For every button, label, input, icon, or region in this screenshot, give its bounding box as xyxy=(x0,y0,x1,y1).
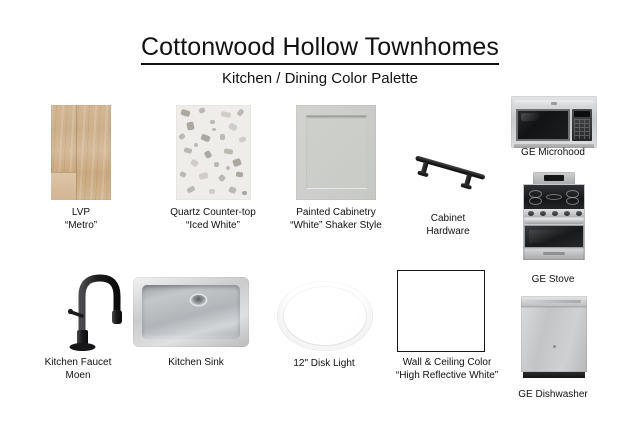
caption-stove: GE Stove xyxy=(532,273,575,286)
caption-cabinetry: Painted Cabinetry “White” Shaker Style xyxy=(290,206,382,232)
freestanding-range-icon xyxy=(516,172,592,260)
caption-lvp: LVP “Metro” xyxy=(65,206,97,232)
dishwasher-icon xyxy=(521,296,587,378)
dishwasher-control-bar xyxy=(521,296,587,307)
undermount-kitchen-sink-icon xyxy=(133,277,249,347)
pulldown-kitchen-faucet-icon xyxy=(62,270,130,354)
pull-foot-right xyxy=(460,183,472,190)
plank-lower-left xyxy=(51,172,76,200)
storage-drawer xyxy=(524,248,584,260)
range-cooktop xyxy=(524,185,584,209)
microwave-control-panel xyxy=(572,109,592,141)
page-title: Cottonwood Hollow Townhomes xyxy=(0,34,640,62)
caption-hardware: Cabinet Hardware xyxy=(426,212,469,238)
page-title-text: Cottonwood Hollow Townhomes xyxy=(141,33,499,65)
burner-rear-left xyxy=(529,197,542,205)
paint-color-swatch-icon xyxy=(397,270,485,352)
microwave-vent xyxy=(515,100,593,107)
burner-rear-right xyxy=(566,197,579,205)
page-subtitle: Kitchen / Dining Color Palette xyxy=(0,70,640,87)
pull-foot-left xyxy=(417,170,429,177)
over-range-microwave-icon xyxy=(511,96,597,148)
quartz-stone-swatch-icon xyxy=(176,105,251,200)
microwave-display xyxy=(574,111,590,117)
oven-door-handle xyxy=(524,218,584,224)
caption-microhood: GE Microhood xyxy=(521,146,585,159)
dishwasher-toe-kick xyxy=(523,372,585,378)
disk-light-lens xyxy=(288,290,362,342)
color-palette-board: Cottonwood Hollow Townhomes Kitchen / Di… xyxy=(0,0,640,445)
plank-seam xyxy=(76,105,77,200)
caption-sink: Kitchen Sink xyxy=(168,356,224,369)
caption-wall-color: Wall & Ceiling Color “High Reflective Wh… xyxy=(396,356,498,382)
microwave-door-glass xyxy=(516,109,570,141)
caption-quartz: Quartz Counter-top “Iced White” xyxy=(170,206,256,232)
wood-plank-swatch-icon xyxy=(51,105,111,200)
range-knob-panel xyxy=(524,209,584,217)
oven-door xyxy=(524,225,584,248)
shaker-cabinet-door-icon xyxy=(296,105,376,200)
sink-bowl xyxy=(142,285,240,339)
caption-disk-light: 12" Disk Light xyxy=(293,357,354,370)
cabinet-inset-panel xyxy=(306,115,367,189)
caption-faucet: Kitchen Faucet Moen xyxy=(45,356,112,382)
caption-dishwasher: GE Dishwasher xyxy=(518,388,587,401)
round-disk-ceiling-light-icon xyxy=(277,281,373,351)
bar-pull-handle-icon xyxy=(409,148,489,196)
faucet-svg xyxy=(62,270,130,354)
microwave-keypad xyxy=(574,119,590,139)
burner-center xyxy=(546,194,562,200)
dishwasher-door-front xyxy=(521,307,587,372)
